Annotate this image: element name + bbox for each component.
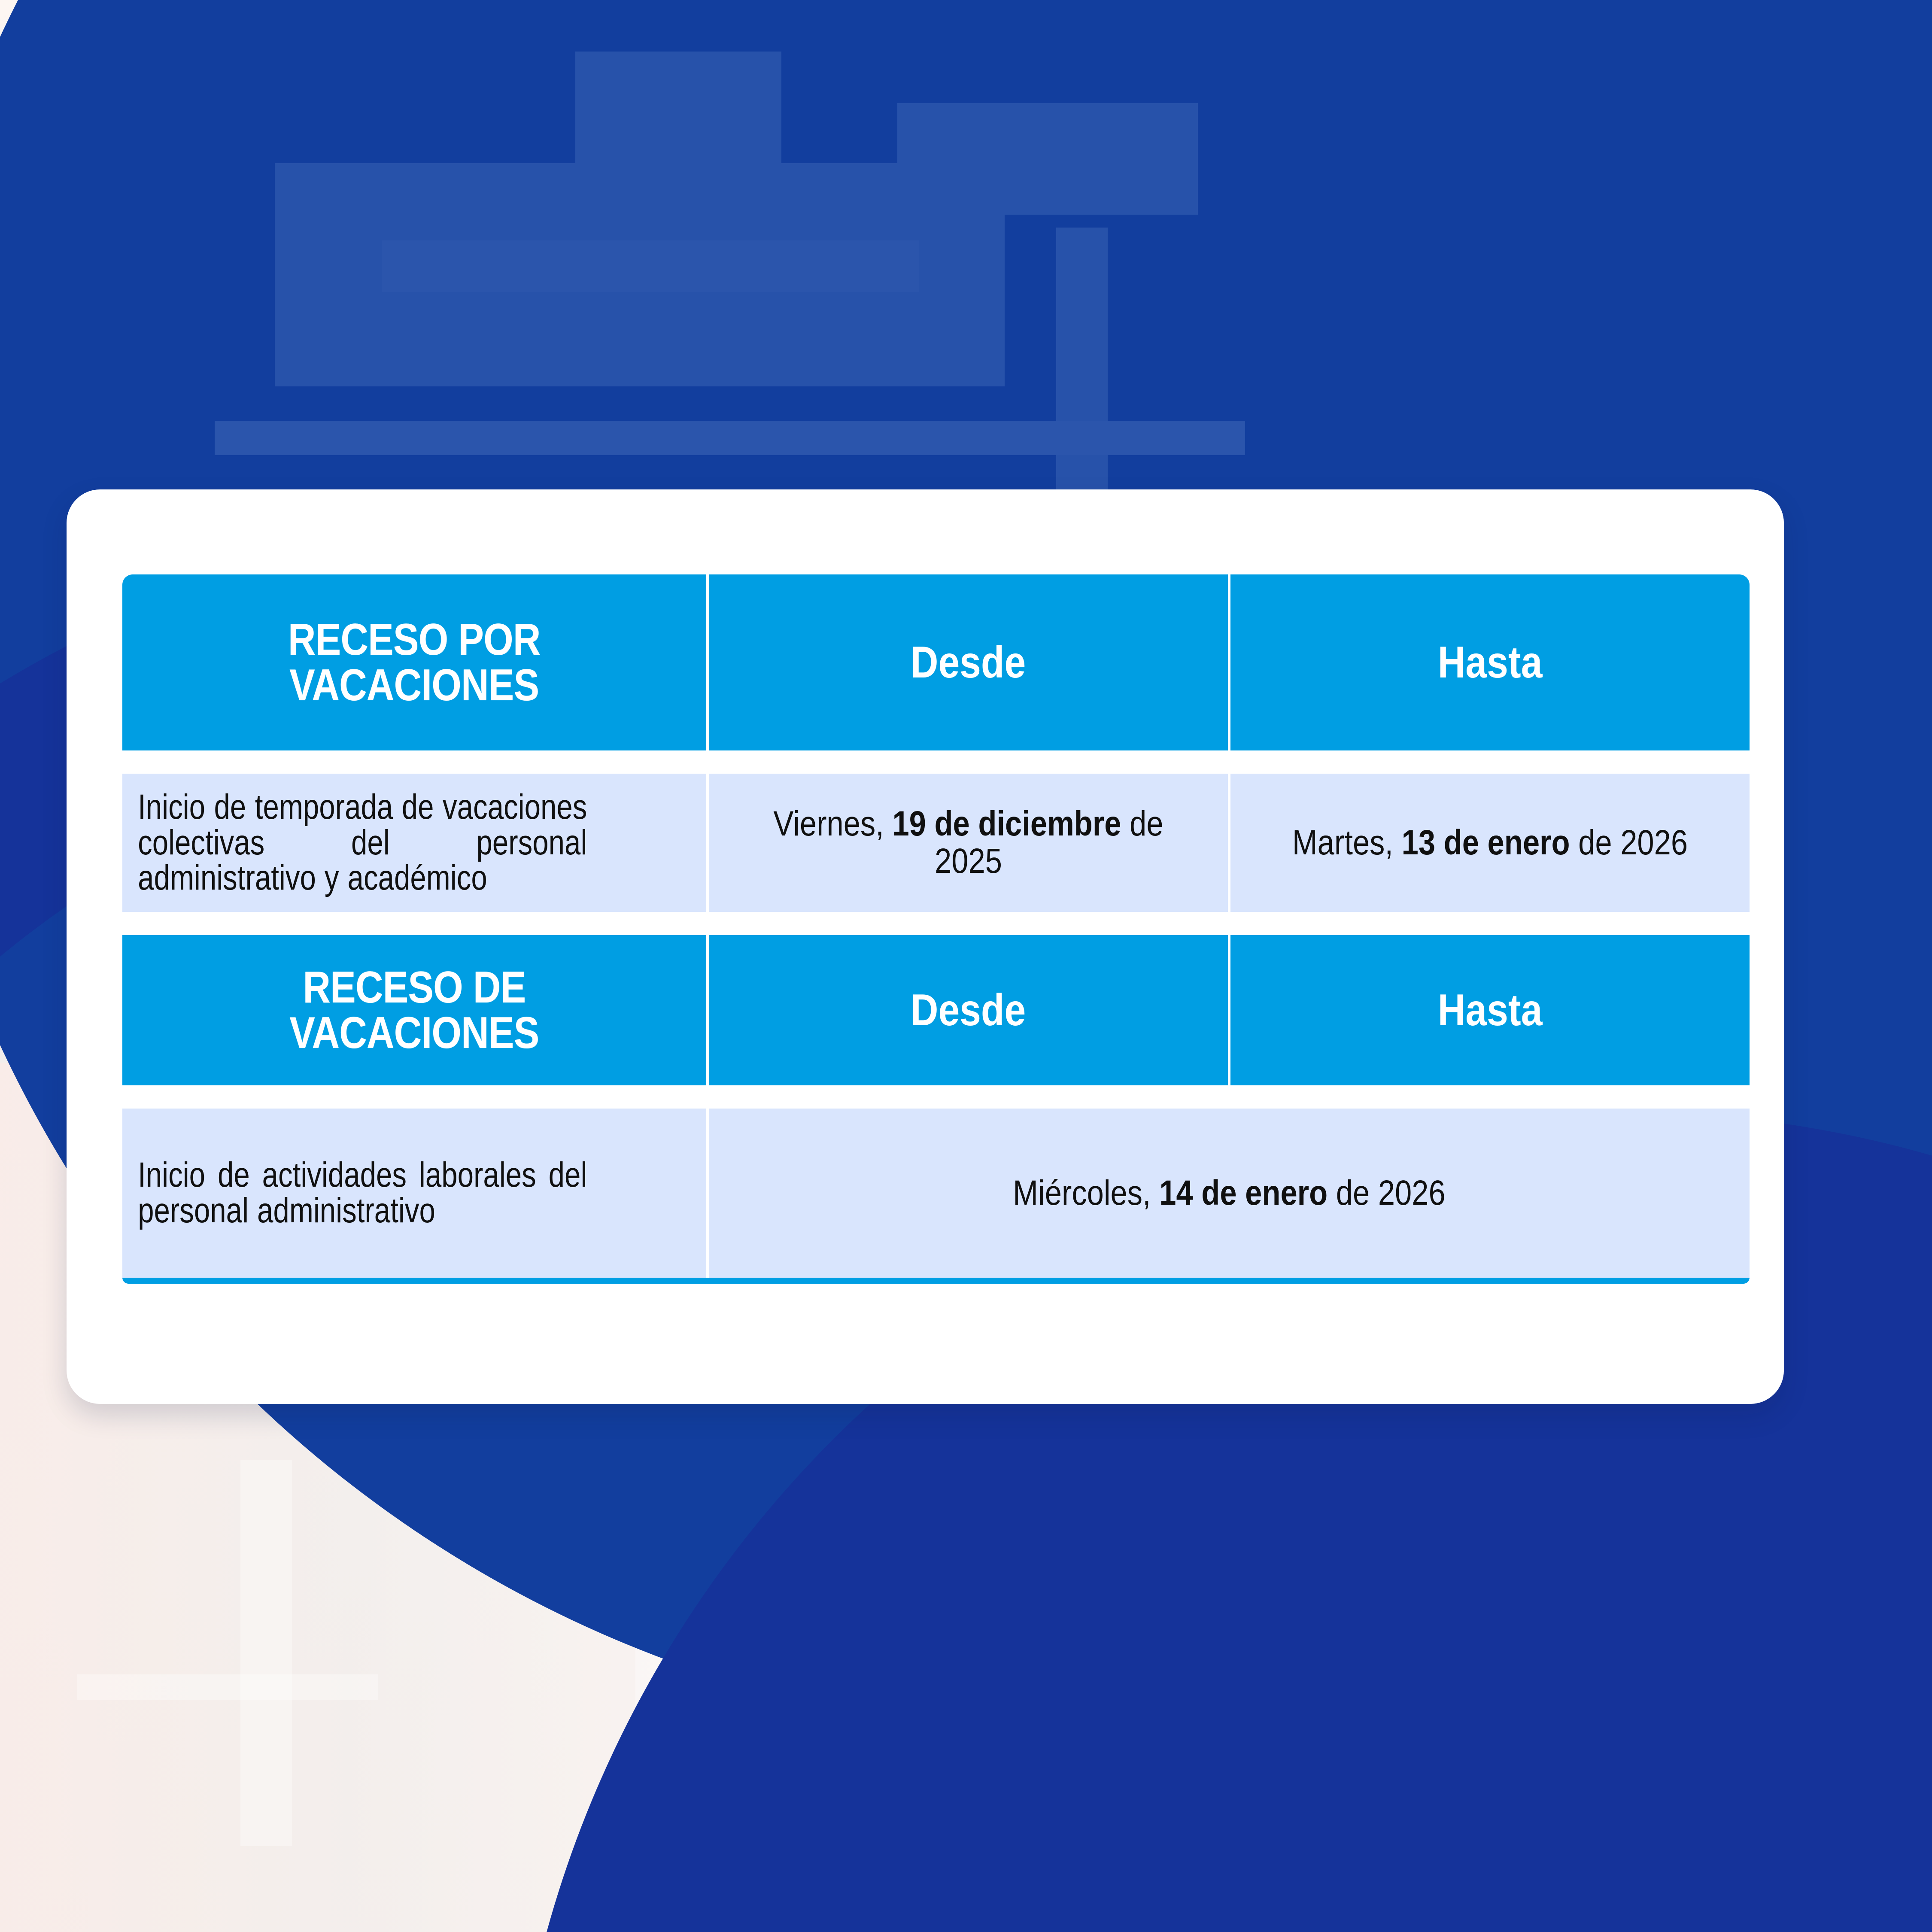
table-row-gap-3 (122, 1085, 1750, 1109)
data-cell-hasta-1: Martes, 13 de enero de 2026 (1228, 774, 1750, 912)
header-cell-title-1: RECESO POR VACACIONES (122, 574, 706, 750)
header-label-hasta-2: Hasta (1438, 987, 1543, 1033)
header-title-line1: RECESO POR (288, 617, 541, 662)
date-from-1: Viernes, 19 de diciembre de 2025 (745, 805, 1192, 880)
header-cell-title-2: RECESO DE VACACIONES (122, 935, 706, 1085)
data-cell-merged-date-2: Miércoles, 14 de enero de 2026 (706, 1109, 1750, 1278)
top-left-light-gradient (0, 0, 498, 386)
header-cell-desde-2: Desde (706, 935, 1228, 1085)
header-cell-desde-1: Desde (706, 574, 1228, 750)
date-to-prefix-1: Martes, (1292, 823, 1402, 862)
header-cell-hasta-1: Hasta (1228, 574, 1750, 750)
data-cell-desde-1: Viernes, 19 de diciembre de 2025 (706, 774, 1228, 912)
table-header-row-2: RECESO DE VACACIONES Desde Hasta (122, 935, 1750, 1085)
table-bottom-accent (122, 1278, 1750, 1284)
date-to-1: Martes, 13 de enero de 2026 (1267, 824, 1713, 862)
data-cell-description-2: Inicio de actividades laborales del pers… (122, 1109, 706, 1278)
table-header-row-1: RECESO POR VACACIONES Desde Hasta (122, 574, 1750, 750)
date-merged-prefix-2: Miércoles, (1013, 1173, 1159, 1212)
date-merged-2: Miércoles, 14 de enero de 2026 (782, 1175, 1677, 1212)
header-label-hasta-1: Hasta (1438, 640, 1543, 685)
table-row-gap-1 (122, 750, 1750, 774)
date-from-bold-1: 19 de diciembre (892, 804, 1121, 843)
header-label-desde-1: Desde (911, 640, 1026, 685)
date-from-prefix-1: Viernes, (773, 804, 892, 843)
date-merged-bold-2: 14 de enero (1159, 1173, 1327, 1212)
header-label-desde-2: Desde (911, 987, 1026, 1033)
table-row: Inicio de temporada de vacaciones colect… (122, 774, 1750, 912)
table-row: Inicio de actividades laborales del pers… (122, 1109, 1750, 1278)
vacation-schedule-table: RECESO POR VACACIONES Desde Hasta Inicio… (122, 574, 1750, 1284)
date-to-suffix-1: de 2026 (1570, 823, 1688, 862)
date-merged-suffix-2: de 2026 (1327, 1173, 1446, 1212)
data-cell-description-1: Inicio de temporada de vacaciones colect… (122, 774, 706, 912)
header-title-2-line2: VACACIONES (289, 1010, 539, 1056)
header-title-2-line1: RECESO DE (289, 965, 539, 1010)
description-text-1: Inicio de temporada de vacaciones colect… (122, 790, 601, 896)
header-title-line2: VACACIONES (288, 662, 541, 708)
date-to-bold-1: 13 de enero (1402, 823, 1570, 862)
header-cell-hasta-2: Hasta (1228, 935, 1750, 1085)
table-row-gap-2 (122, 912, 1750, 935)
description-text-2: Inicio de actividades laborales del pers… (122, 1157, 601, 1229)
